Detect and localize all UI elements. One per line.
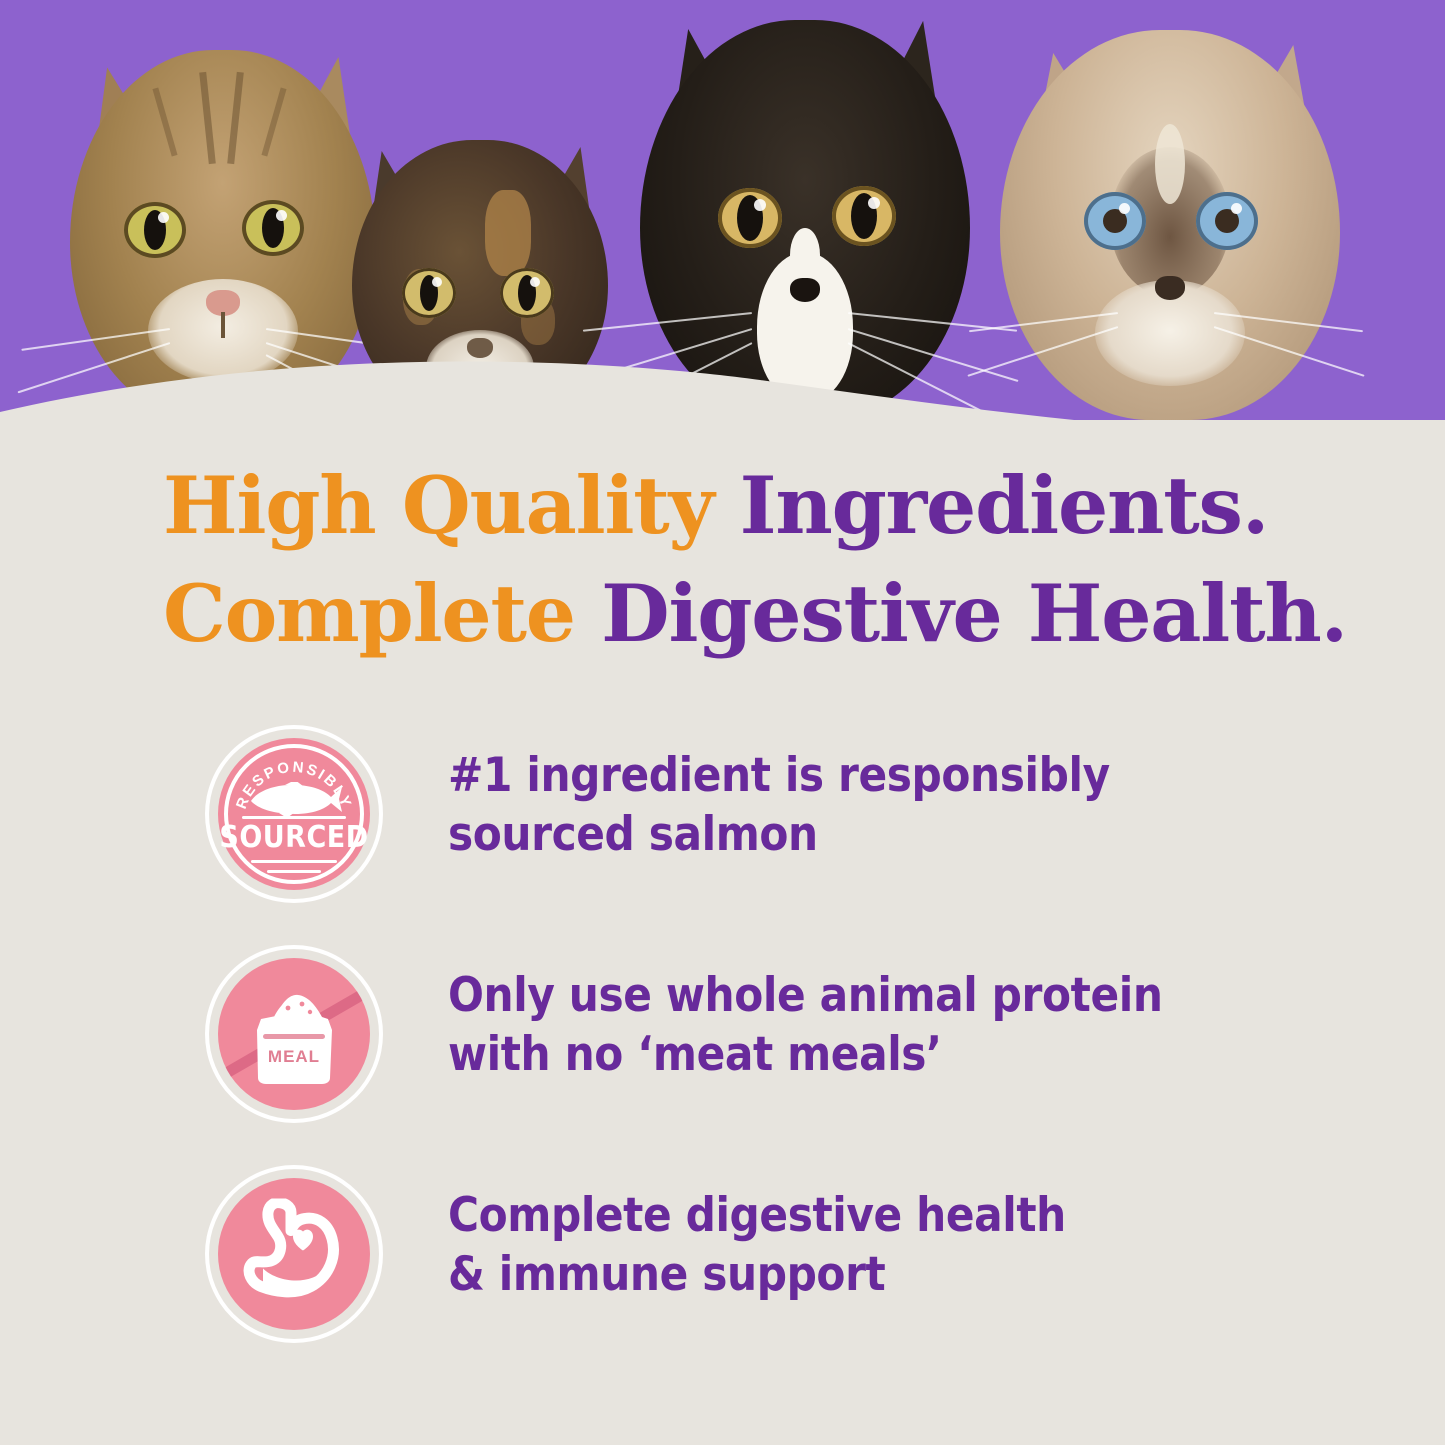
stomach-shape — [239, 1199, 349, 1310]
seal-divider-mid — [251, 860, 337, 863]
no-meat-meal-sack-icon: MEAL — [218, 958, 370, 1110]
benefit-text-line-2: sourced salmon — [448, 805, 1110, 864]
meal-sack-shape: MEAL — [246, 986, 342, 1091]
list-item: Complete digestive health & immune suppo… — [0, 1166, 1445, 1386]
cat-eye-right — [1196, 192, 1258, 250]
responsibly-sourced-fish-seal-icon: RESPONSIBLY SOURCED — [218, 738, 370, 890]
seal-divider-bottom — [267, 870, 321, 873]
cat-eye-left — [1084, 192, 1146, 250]
headline-line-1-orange: High Quality — [163, 459, 740, 552]
benefit-text-line-2: & immune support — [448, 1245, 1066, 1304]
cat-nose — [1155, 276, 1185, 300]
benefit-text-line-2: with no ‘meat meals’ — [448, 1025, 1163, 1084]
benefit-text: #1 ingredient is responsibly sourced sal… — [448, 746, 1110, 864]
list-item: RESPONSIBLY SOURCED #1 ingredie — [0, 726, 1445, 946]
benefit-text: Only use whole animal protein with no ‘m… — [448, 966, 1163, 1084]
list-item: MEAL Only use whole animal protein with … — [0, 946, 1445, 1166]
headline-line-2-orange: Complete — [163, 567, 601, 660]
benefit-text-line-1: Only use whole animal protein — [448, 966, 1163, 1025]
stomach-heart-digestive-health-icon — [218, 1178, 370, 1330]
benefits-list: RESPONSIBLY SOURCED #1 ingredie — [0, 726, 1445, 1386]
cat-eye-right — [832, 186, 896, 246]
headline-line-2: Complete Digestive Health. — [163, 560, 1363, 668]
benefit-text: Complete digestive health & immune suppo… — [448, 1186, 1066, 1304]
seal-word-label: SOURCED — [218, 820, 370, 855]
headline-line-2-purple: Digestive Health. — [601, 567, 1347, 660]
sack-label: MEAL — [268, 1047, 320, 1066]
headline-line-1-purple: Ingredients. — [740, 459, 1269, 552]
cat-nose — [790, 278, 820, 302]
marketing-infographic: High Quality Ingredients. Complete Diges… — [0, 0, 1445, 1445]
benefit-text-line-1: Complete digestive health — [448, 1186, 1066, 1245]
cat-eye-left — [718, 188, 782, 248]
headline-line-1: High Quality Ingredients. — [163, 452, 1363, 560]
benefit-text-line-1: #1 ingredient is responsibly — [448, 746, 1110, 805]
page-title: High Quality Ingredients. Complete Diges… — [163, 452, 1363, 668]
cat-eye-right — [242, 200, 304, 256]
cat-eye-left — [124, 202, 186, 258]
seal-divider-top — [242, 816, 346, 819]
